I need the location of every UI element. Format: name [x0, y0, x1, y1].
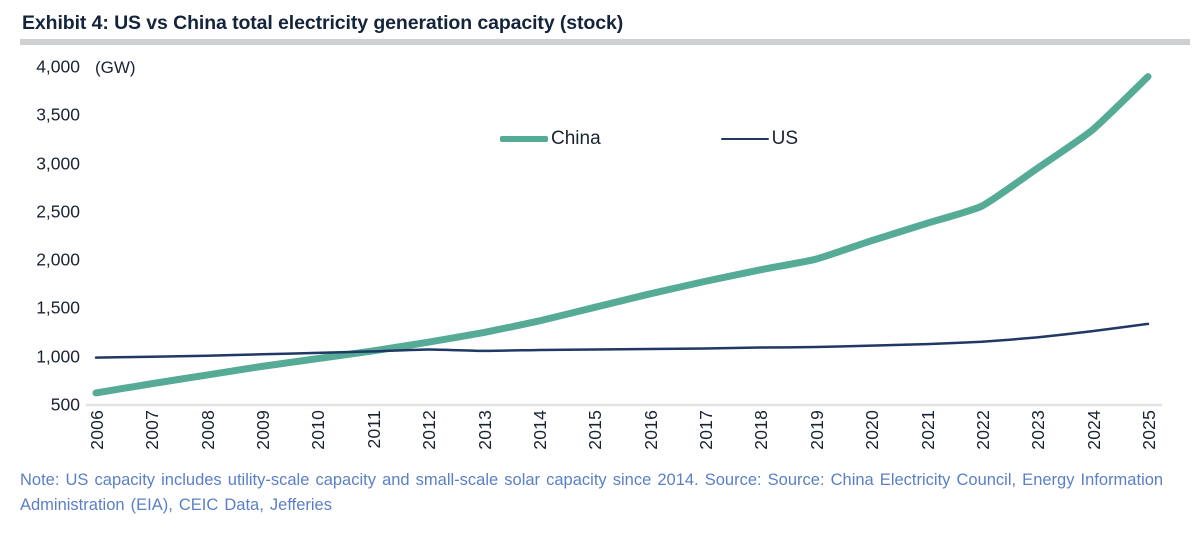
y-axis-tick-2500: 2,500 [8, 201, 80, 222]
legend-label-us: US [772, 128, 798, 150]
x-axis-tick-labels: 2006200720082009201020112012201320142015… [0, 410, 1200, 472]
series-line-us [96, 324, 1148, 358]
page-title: Exhibit 4: US vs China total electricity… [22, 12, 623, 35]
y-axis-tick-4000: 4,000 [8, 57, 80, 78]
legend-swatch-china-icon [500, 136, 548, 142]
y-axis-tick-3500: 3,500 [8, 105, 80, 126]
chart-footnote: Note: US capacity includes utility-scale… [20, 468, 1185, 518]
x-axis-tick-2007: 2007 [142, 410, 163, 450]
x-axis-tick-2006: 2006 [87, 410, 108, 450]
x-axis-tick-2014: 2014 [530, 410, 551, 450]
x-axis-tick-2022: 2022 [973, 410, 994, 450]
series-line-china [96, 77, 1148, 393]
x-axis-tick-2016: 2016 [641, 410, 662, 450]
x-axis-tick-2024: 2024 [1084, 410, 1105, 450]
legend-swatch-us-icon [721, 138, 769, 141]
chart-plot-area [0, 45, 1200, 410]
y-axis-tick-1000: 1,000 [8, 346, 80, 367]
x-axis-tick-2013: 2013 [475, 410, 496, 450]
x-axis-tick-2021: 2021 [918, 410, 939, 450]
y-axis-tick-3000: 3,000 [8, 153, 80, 174]
x-axis-tick-2009: 2009 [253, 410, 274, 450]
x-axis-tick-2023: 2023 [1028, 410, 1049, 450]
legend-item-china[interactable]: China [500, 128, 601, 150]
x-axis-tick-2017: 2017 [696, 410, 717, 450]
series-lines [96, 77, 1148, 393]
chart-legend: China US [500, 128, 798, 150]
x-axis-tick-2010: 2010 [308, 410, 329, 450]
legend-item-us[interactable]: US [721, 128, 798, 150]
x-axis-tick-2012: 2012 [419, 410, 440, 450]
y-axis-tick-1500: 1,500 [8, 298, 80, 319]
line-chart-svg [0, 45, 1200, 410]
y-axis-tick-2000: 2,000 [8, 250, 80, 271]
legend-label-china: China [551, 128, 601, 150]
x-axis-tick-2019: 2019 [807, 410, 828, 450]
x-axis-tick-2020: 2020 [862, 410, 883, 450]
x-axis-tick-2008: 2008 [198, 410, 219, 450]
x-axis-tick-2018: 2018 [751, 410, 772, 450]
x-axis-tick-2025: 2025 [1139, 410, 1160, 450]
x-axis-tick-2015: 2015 [585, 410, 606, 450]
x-axis-tick-2011: 2011 [364, 410, 385, 448]
